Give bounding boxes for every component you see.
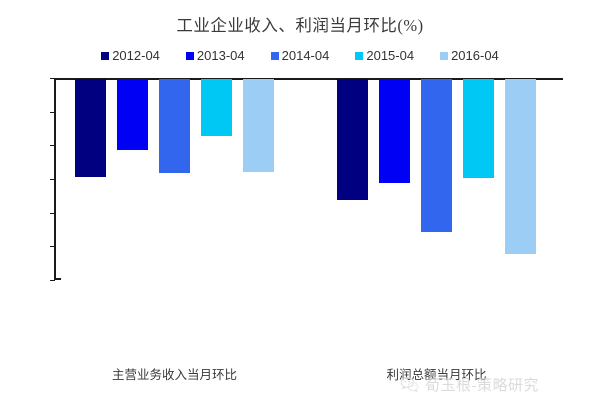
y-axis-tick xyxy=(50,246,55,247)
legend-item-2015-04[interactable]: 2015-04 xyxy=(355,48,414,63)
legend-label: 2012-04 xyxy=(112,48,160,63)
chart-legend: 2012-042013-042014-042015-042016-04 xyxy=(0,48,600,63)
bar-2012-04-group1 xyxy=(75,79,106,177)
legend-label: 2015-04 xyxy=(366,48,414,63)
bar-2015-04-group1 xyxy=(201,79,232,136)
y-axis-tick xyxy=(50,145,55,146)
legend-swatch-icon xyxy=(271,52,279,60)
legend-swatch-icon xyxy=(101,52,109,60)
bar-2012-04-group2 xyxy=(337,79,368,200)
bar-2013-04-group1 xyxy=(117,79,148,150)
bar-2013-04-group2 xyxy=(379,79,410,183)
legend-item-2014-04[interactable]: 2014-04 xyxy=(271,48,330,63)
watermark-text: 荀玉根-策略研究 xyxy=(425,374,539,395)
y-axis-tick xyxy=(50,112,55,113)
plot-area: 0-2-4-6-8-10-12主营业务收入当月环比利润总额当月环比 xyxy=(55,78,563,280)
legend-item-2016-04[interactable]: 2016-04 xyxy=(440,48,499,63)
y-axis-tick xyxy=(50,280,55,281)
legend-swatch-icon xyxy=(186,52,194,60)
legend-swatch-icon xyxy=(355,52,363,60)
chart-title: 工业企业收入、利润当月环比(%) xyxy=(0,12,600,36)
bar-2014-04-group1 xyxy=(159,79,190,173)
chart-container: 工业企业收入、利润当月环比(%) 2012-042013-042014-0420… xyxy=(0,0,600,415)
legend-item-2012-04[interactable]: 2012-04 xyxy=(101,48,160,63)
y-axis-tick xyxy=(50,179,55,180)
bar-2016-04-group1 xyxy=(243,79,274,172)
x-axis-category-label: 主营业务收入当月环比 xyxy=(35,364,314,383)
legend-swatch-icon xyxy=(440,52,448,60)
legend-label: 2016-04 xyxy=(451,48,499,63)
legend-label: 2014-04 xyxy=(282,48,330,63)
bar-2014-04-group2 xyxy=(421,79,452,232)
legend-item-2013-04[interactable]: 2013-04 xyxy=(186,48,245,63)
wechat-icon xyxy=(400,375,419,394)
y-axis-tick xyxy=(50,78,55,79)
bar-2016-04-group2 xyxy=(505,79,536,254)
y-axis-tick xyxy=(50,213,55,214)
watermark: 荀玉根-策略研究 xyxy=(400,374,539,395)
y-axis-foot xyxy=(54,278,61,280)
bar-2015-04-group2 xyxy=(463,79,494,178)
legend-label: 2013-04 xyxy=(197,48,245,63)
